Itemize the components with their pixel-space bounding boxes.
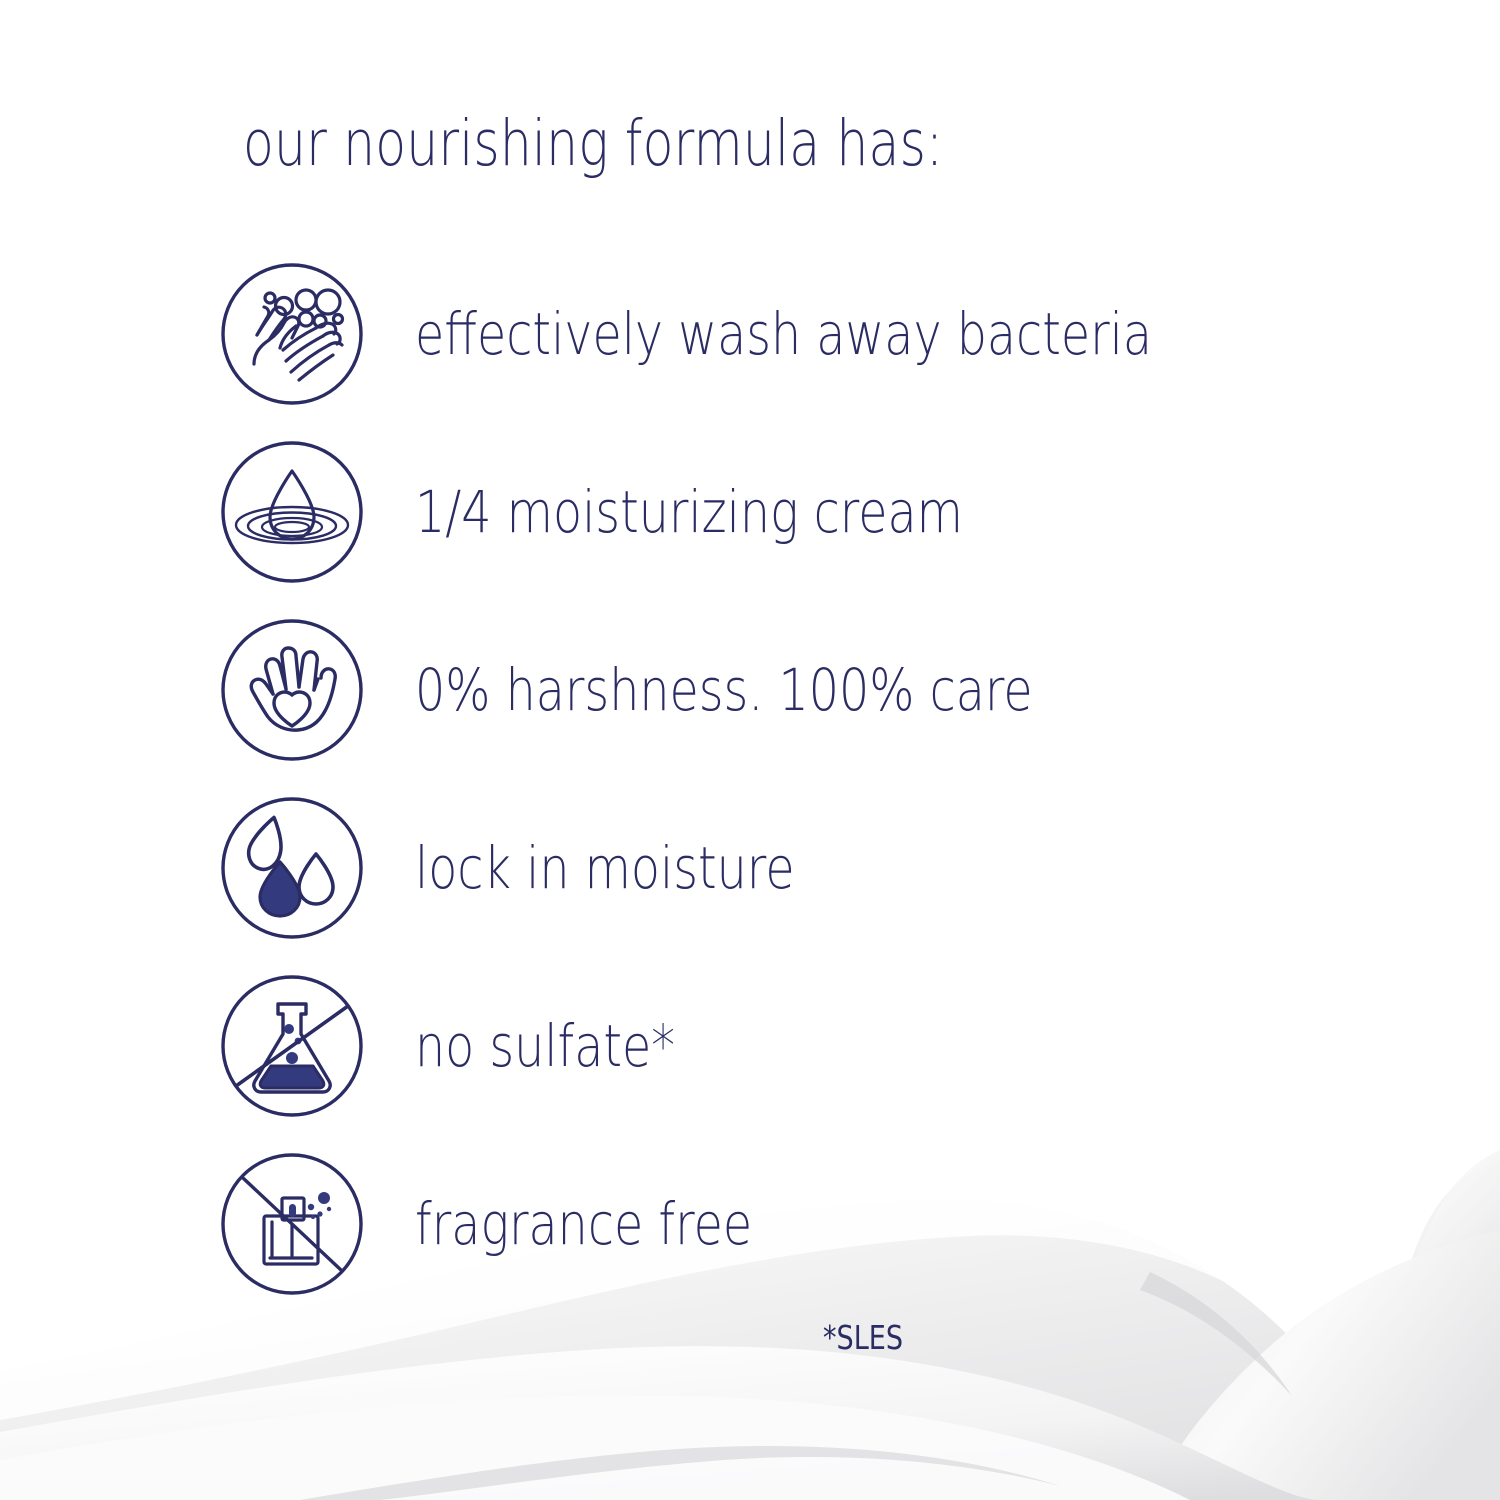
list-item: no sulfate* [220,974,1420,1118]
list-item-label: 0% harshness. 100% care [415,661,1033,719]
no-flask-icon [220,974,364,1118]
list-item: 1/4 moisturizing cream [220,440,1420,584]
washing-hands-bubbles-icon [220,262,364,406]
list-item: fragrance free [220,1152,1420,1296]
list-item: effectively wash away bacteria [220,262,1420,406]
list-item-label: lock in moisture [415,839,795,897]
product-benefits-infographic: our nourishing formula has: [0,0,1500,1500]
no-perfume-bottle-icon [220,1152,364,1296]
three-droplets-icon [220,796,364,940]
hand-heart-icon [220,618,364,762]
footnote-sles: *SLES [823,1318,903,1357]
list-item: 0% harshness. 100% care [220,618,1420,762]
list-item-label: no sulfate* [415,1017,675,1075]
page-title: our nourishing formula has: [243,112,943,175]
list-item: lock in moisture [220,796,1420,940]
list-item-label: effectively wash away bacteria [415,305,1152,363]
water-droplet-ripple-icon [220,440,364,584]
list-item-label: 1/4 moisturizing cream [415,483,963,541]
list-item-label: fragrance free [415,1195,752,1253]
